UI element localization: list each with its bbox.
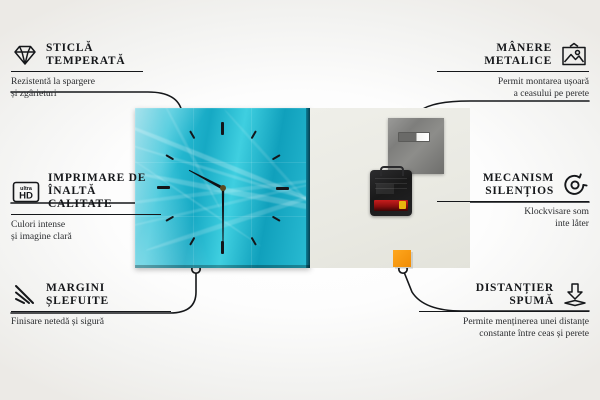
callout-subtitle: Klockvisare som bbox=[437, 206, 589, 218]
callout-subtitle-2: și zgârieturi bbox=[11, 88, 143, 100]
callout-rule bbox=[419, 311, 589, 312]
clock-face bbox=[135, 108, 310, 268]
callout-rule bbox=[437, 71, 589, 72]
foam-spacer-icon bbox=[561, 282, 589, 308]
callout-subtitle-2: inte låter bbox=[437, 218, 589, 230]
battery-plus-terminal bbox=[399, 201, 406, 209]
foam-spacer bbox=[393, 250, 411, 267]
callout-title-2: TEMPERATĂ bbox=[46, 55, 125, 68]
callout-title: DISTANȚIER bbox=[476, 282, 554, 295]
ultra-hd-icon: ultra HD bbox=[11, 180, 41, 204]
gear-icon bbox=[561, 172, 589, 198]
callout-margini-slefuite: MARGINI ȘLEFUITE Finisare netedă și sigu… bbox=[11, 282, 171, 328]
callout-rule bbox=[437, 201, 589, 202]
callout-title: MÂNERE bbox=[484, 42, 552, 55]
callout-manere-metalice: MÂNERE METALICE Permit montarea ușoară a… bbox=[437, 42, 589, 100]
callout-rule bbox=[11, 71, 143, 72]
hanger-slot bbox=[398, 132, 430, 142]
callout-title: MECANISM bbox=[483, 172, 554, 185]
callout-rule bbox=[11, 311, 171, 312]
clock-mechanism bbox=[370, 170, 412, 216]
picture-hanger-icon bbox=[559, 42, 589, 68]
callout-subtitle: Rezistentă la spargere bbox=[11, 76, 143, 88]
callout-subtitle: Finisare netedă și sigură bbox=[11, 316, 171, 328]
battery bbox=[374, 200, 408, 211]
callout-subtitle: Permit montarea ușoară bbox=[437, 76, 589, 88]
mechanism-label-patch bbox=[376, 184, 394, 194]
ultra-hd-icon-main: HD bbox=[19, 190, 33, 201]
infographic-canvas: STICLĂ TEMPERATĂ Rezistentă la spargere … bbox=[0, 0, 600, 400]
callout-title-2: ÎNALTĂ CALITATE bbox=[48, 185, 161, 211]
callout-title-2: SILENȚIOS bbox=[483, 185, 554, 198]
callout-imprimare-hd: ultra HD IMPRIMARE DE ÎNALTĂ CALITATE Cu… bbox=[11, 172, 161, 243]
callout-title: MARGINI bbox=[46, 282, 109, 295]
mechanism-hook bbox=[380, 166, 404, 176]
diamond-icon bbox=[11, 43, 39, 67]
callout-subtitle-2: constante între ceas și perete bbox=[419, 328, 589, 340]
callout-title: IMPRIMARE DE bbox=[48, 172, 161, 185]
callout-title-2: ȘLEFUITE bbox=[46, 295, 109, 308]
polished-edges-icon bbox=[11, 283, 39, 307]
callout-mecanism-silentios: MECANISM SILENȚIOS Klockvisare som inte … bbox=[437, 172, 589, 230]
callout-subtitle-2: a ceasului pe perete bbox=[437, 88, 589, 100]
callout-title-2: METALICE bbox=[484, 55, 552, 68]
clock-center-cap bbox=[220, 185, 226, 191]
callout-title: STICLĂ bbox=[46, 42, 125, 55]
callout-sticla-temperata: STICLĂ TEMPERATĂ Rezistentă la spargere … bbox=[11, 42, 143, 100]
callout-title-2: SPUMĂ bbox=[476, 295, 554, 308]
callout-subtitle: Permite menținerea unei distanțe bbox=[419, 316, 589, 328]
callout-rule bbox=[11, 214, 161, 215]
callout-subtitle-2: și imagine clară bbox=[11, 231, 161, 243]
callout-distantier-spuma: DISTANȚIER SPUMĂ Permite menținerea unei… bbox=[419, 282, 589, 340]
callout-subtitle: Culori intense bbox=[11, 219, 161, 231]
